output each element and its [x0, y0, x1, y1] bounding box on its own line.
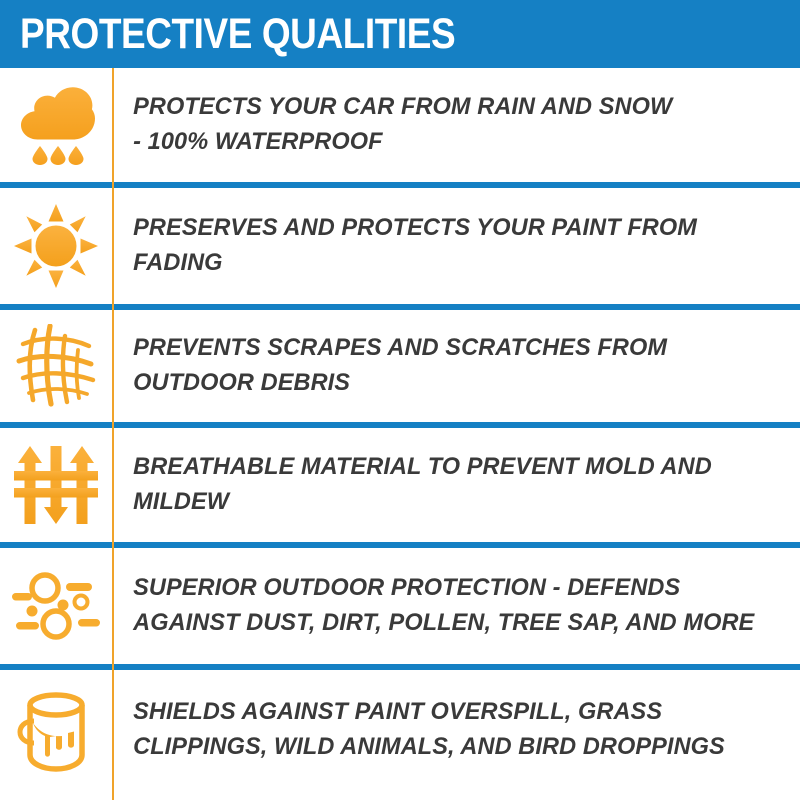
breathable-arrows-icon: [14, 444, 98, 526]
feature-row-scratches: PREVENTS SCRAPES AND SCRATCHES FROM OUTD…: [0, 310, 800, 422]
feature-text-line: PRESERVES AND PROTECTS YOUR PAINT FROM: [133, 211, 755, 246]
feature-icon-cell: [0, 687, 112, 773]
paint-can-icon: [16, 687, 96, 773]
feature-text-line: FADING: [133, 246, 755, 281]
feature-row-paint-debris: SHIELDS AGAINST PAINT OVERSPILL, GRASS C…: [0, 670, 800, 790]
feature-icon-cell: [0, 324, 112, 408]
feature-text: BREATHABLE MATERIAL TO PREVENT MOLD AND …: [112, 450, 772, 520]
sun-icon: [14, 204, 98, 288]
feature-list: PROTECTS YOUR CAR FROM RAIN AND SNOW - 1…: [0, 68, 800, 790]
feature-text: PROTECTS YOUR CAR FROM RAIN AND SNOW - 1…: [112, 90, 772, 160]
dust-particles-icon: [12, 569, 100, 643]
icon-text-divider: [112, 68, 114, 800]
feature-text-line: SHIELDS AGAINST PAINT OVERSPILL, GRASS: [133, 695, 755, 730]
feature-text-line: CLIPPINGS, WILD ANIMALS, AND BIRD DROPPI…: [133, 730, 755, 765]
feature-text-line: BREATHABLE MATERIAL TO PREVENT MOLD AND: [133, 450, 755, 485]
feature-text-line: SUPERIOR OUTDOOR PROTECTION - DEFENDS: [133, 571, 755, 606]
feature-text-line: MILDEW: [133, 485, 755, 520]
feature-icon-cell: [0, 444, 112, 526]
page-title: PROTECTIVE QUALITIES: [20, 13, 455, 56]
feature-row-dust-protection: SUPERIOR OUTDOOR PROTECTION - DEFENDS AG…: [0, 548, 800, 664]
feature-text: PREVENTS SCRAPES AND SCRATCHES FROM OUTD…: [112, 331, 772, 401]
feature-text: SUPERIOR OUTDOOR PROTECTION - DEFENDS AG…: [112, 571, 772, 641]
feature-row-breathable: BREATHABLE MATERIAL TO PREVENT MOLD AND …: [0, 428, 800, 542]
feature-text: PRESERVES AND PROTECTS YOUR PAINT FROM F…: [112, 211, 772, 281]
feature-icon-cell: [0, 569, 112, 643]
feature-text-line: AGAINST DUST, DIRT, POLLEN, TREE SAP, AN…: [133, 606, 755, 641]
feature-row-waterproof: PROTECTS YOUR CAR FROM RAIN AND SNOW - 1…: [0, 68, 800, 182]
feature-text-line: OUTDOOR DEBRIS: [133, 366, 755, 401]
feature-icon-cell: [0, 85, 112, 165]
feature-text-line: - 100% WATERPROOF: [133, 125, 755, 160]
feature-text: SHIELDS AGAINST PAINT OVERSPILL, GRASS C…: [112, 695, 772, 765]
protective-qualities-infographic: PROTECTIVE QUALITIES: [0, 0, 800, 800]
feature-text-line: PROTECTS YOUR CAR FROM RAIN AND SNOW: [133, 90, 755, 125]
rain-cloud-icon: [17, 85, 95, 165]
scratches-icon: [13, 324, 99, 408]
feature-row-uv-fading: PRESERVES AND PROTECTS YOUR PAINT FROM F…: [0, 188, 800, 304]
header-bar: PROTECTIVE QUALITIES: [0, 0, 800, 68]
feature-text-line: PREVENTS SCRAPES AND SCRATCHES FROM: [133, 331, 755, 366]
feature-icon-cell: [0, 204, 112, 288]
